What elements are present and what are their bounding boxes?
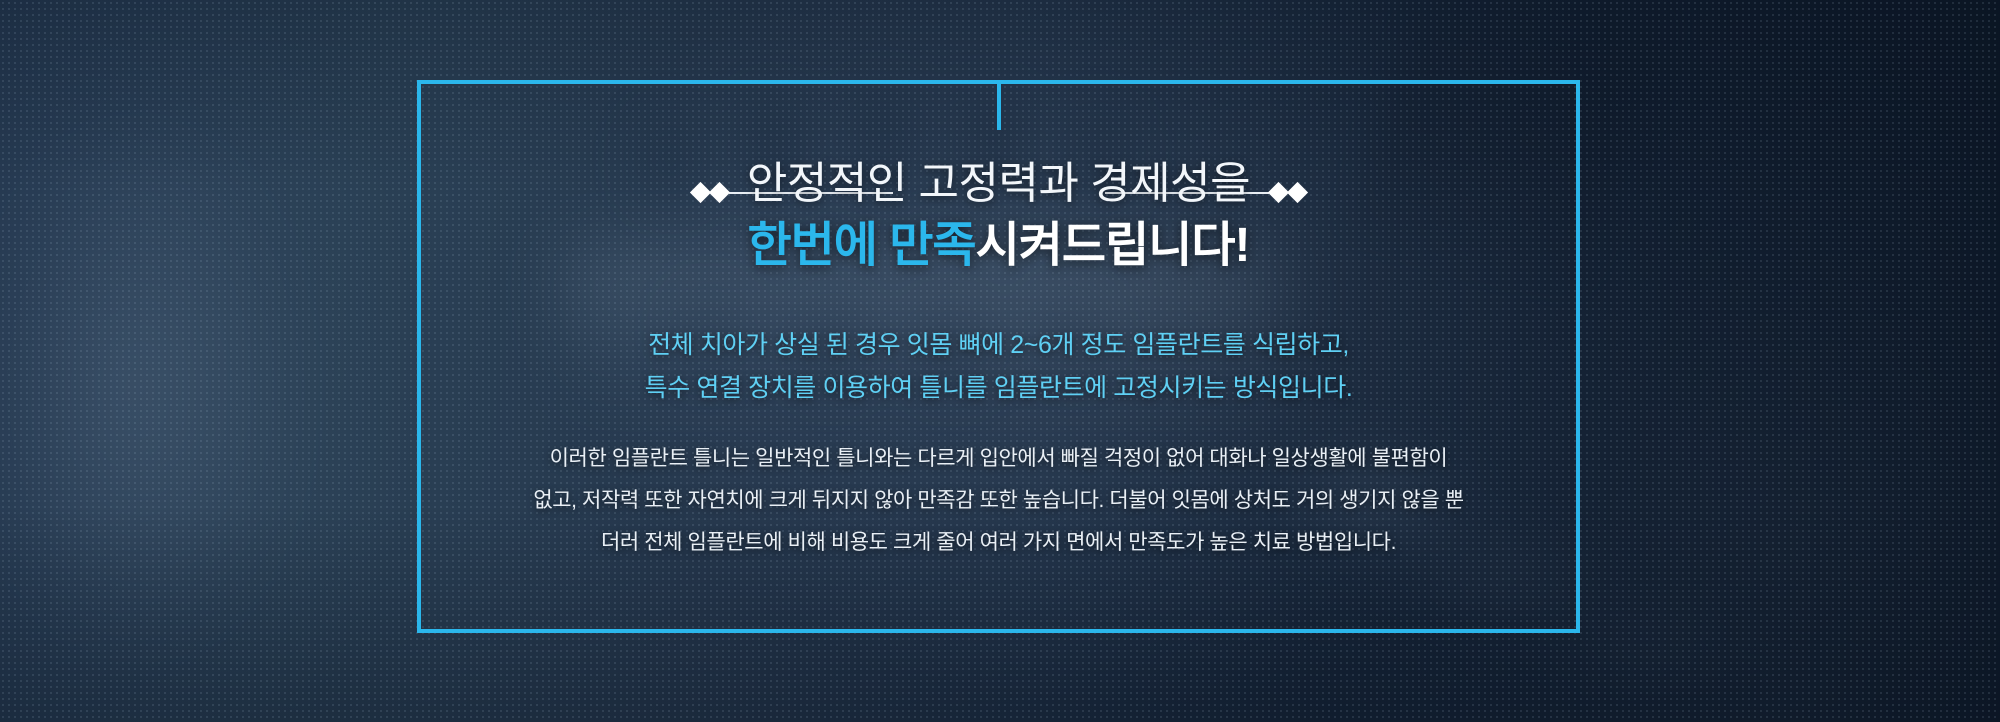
lead-paragraph: 전체 치아가 상실 된 경우 잇몸 뼈에 2~6개 정도 임플란트를 식립하고,… xyxy=(417,324,1580,410)
body-paragraph: 이러한 임플란트 틀니는 일반적인 틀니와는 다르게 입안에서 빠질 걱정이 없… xyxy=(417,438,1580,564)
lead-line-2: 특수 연결 장치를 이용하여 틀니를 임플란트에 고정시키는 방식입니다. xyxy=(417,367,1580,410)
headline-line-2: 한번에 만족시켜드립니다! xyxy=(417,215,1580,276)
banner-content: 안정적인 고정력과 경제성을 한번에 만족시켜드립니다! 전체 치아가 상실 된… xyxy=(417,80,1580,633)
dental-implant-denture-banner: 안정적인 고정력과 경제성을 한번에 만족시켜드립니다! 전체 치아가 상실 된… xyxy=(0,0,2000,722)
headline-accent-text: 한번에 만족 xyxy=(747,219,975,272)
lead-line-1: 전체 치아가 상실 된 경우 잇몸 뼈에 2~6개 정도 임플란트를 식립하고, xyxy=(417,324,1580,367)
headline-line-1: 안정적인 고정력과 경제성을 xyxy=(417,156,1580,212)
body-line-3: 더러 전체 임플란트에 비해 비용도 크게 줄어 여러 가지 면에서 만족도가 … xyxy=(417,522,1580,564)
body-line-1: 이러한 임플란트 틀니는 일반적인 틀니와는 다르게 입안에서 빠질 걱정이 없… xyxy=(417,438,1580,480)
headline-plain-text: 시켜드립니다! xyxy=(976,219,1250,272)
body-line-2: 없고, 저작력 또한 자연치에 크게 뒤지지 않아 만족감 또한 높습니다. 더… xyxy=(417,480,1580,522)
